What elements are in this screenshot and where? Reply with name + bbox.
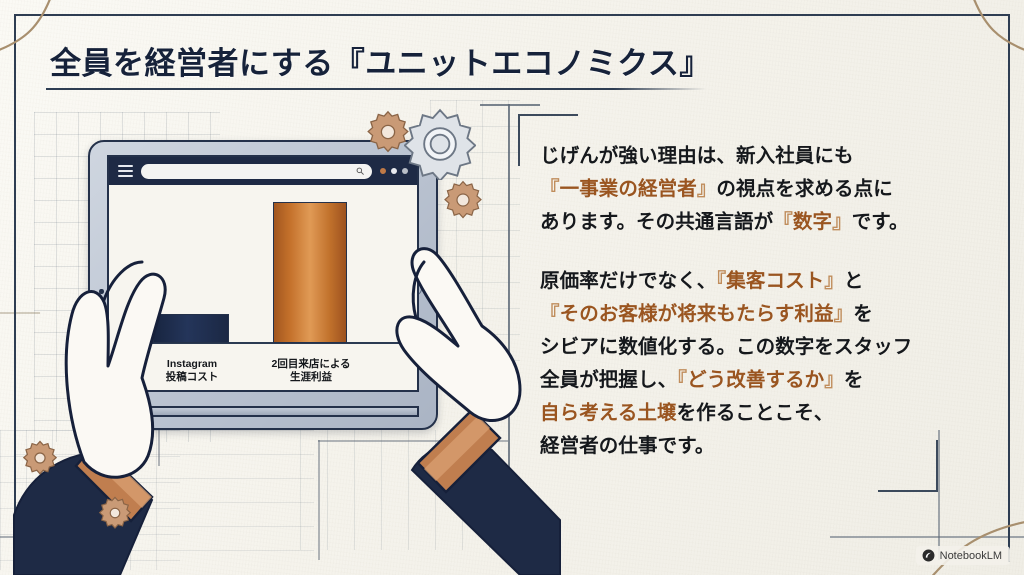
bar-label-lifetime-profit: 2回目来店による生涯利益: [250, 358, 372, 384]
guide-line-vertical-b: [318, 440, 320, 560]
text-line: 原価率だけでなく、『集客コスト』と: [540, 265, 960, 298]
bar-label-instagram-cost: Instagram投稿コスト: [133, 358, 251, 384]
text-line: 全員が把握し、『どう改善するか』を: [540, 364, 960, 397]
text-run: を作ることこそ、: [677, 402, 834, 424]
frame-right: [1008, 14, 1010, 562]
notebooklm-logo-icon: [922, 549, 935, 562]
bar-chart: Instagram投稿コスト 2回目来店による生涯利益: [109, 185, 417, 390]
highlight-run: 『: [540, 303, 560, 325]
text-run: を: [853, 303, 873, 325]
tablet-bottom-bezel: [107, 406, 419, 417]
highlight-run: 数字: [793, 211, 832, 233]
text-line: 『一事業の経営者』の視点を求める点に: [540, 173, 960, 206]
highlight-run: 『: [677, 369, 687, 391]
gear-copper-cuff-lower-icon: [98, 496, 132, 530]
highlight-run: 』: [824, 369, 844, 391]
text-run: 全員が把握し、: [540, 369, 677, 391]
highlight-run: 』: [824, 270, 844, 292]
watermark-label: NotebookLM: [940, 550, 1002, 562]
gear-copper-right-icon: [443, 180, 483, 220]
text-run: です。: [852, 211, 909, 233]
browser-dots[interactable]: [380, 168, 408, 174]
guide-line-panel-divider: [508, 104, 510, 544]
tablet-screen: Instagram投稿コスト 2回目来店による生涯利益: [107, 155, 419, 392]
browser-dot-3: [402, 168, 408, 174]
text-line: シビアに数値化する。この数字をスタッフ: [540, 331, 960, 364]
page-title: 全員を経営者にする『ユニットエコノミクス』: [50, 38, 711, 83]
text-run: の視点を求める点に: [716, 178, 892, 200]
slide-canvas: 全員を経営者にする『ユニットエコノミクス』 じげんが強い理由は、新入社員にも『一…: [0, 0, 1024, 575]
blueprint-grid-mid: [430, 100, 520, 400]
text-run: を: [844, 369, 864, 391]
highlight-run: 自ら考える土壌: [540, 402, 677, 424]
frame-left: [14, 14, 16, 562]
highlight-run: 一事業の経営者: [560, 178, 697, 200]
text-line: 自ら考える土壌を作ることこそ、: [540, 397, 960, 430]
text-line: 経営者の仕事です。: [540, 430, 960, 463]
guide-line-bottom-right: [830, 536, 1024, 538]
blueprint-grid-lower-left: [0, 430, 180, 570]
bar-label-line: Instagram: [133, 358, 251, 371]
text-run: 原価率だけでなく、: [540, 270, 716, 292]
title-underline: [46, 88, 706, 90]
highlight-run: 』: [834, 303, 854, 325]
blueprint-grid-bottom-vertical: [300, 430, 500, 550]
paragraph-1: じげんが強い理由は、新入社員にも『一事業の経営者』の視点を求める点にあります。そ…: [540, 140, 960, 239]
gear-copper-cuff-left-icon: [22, 440, 58, 476]
bar-instagram-cost: [153, 314, 229, 343]
text-line: じげんが強い理由は、新入社員にも: [540, 140, 960, 173]
guide-line-bottom-left: [0, 536, 120, 538]
highlight-run: どう改善するか: [687, 369, 824, 391]
hamburger-menu-icon[interactable]: [118, 165, 133, 177]
text-line: あります。その共通言語が『数字』です。: [540, 206, 960, 239]
guide-line-left: [0, 312, 40, 314]
highlight-run: 』: [697, 178, 717, 200]
highlight-run: 』: [832, 211, 852, 233]
tablet-device: Instagram投稿コスト 2回目来店による生涯利益: [88, 140, 438, 430]
paragraph-2: 原価率だけでなく、『集客コスト』と『そのお客様が将来もたらす利益』をシビアに数値…: [540, 265, 960, 463]
highlight-run: 『: [716, 270, 726, 292]
frame-top: [14, 14, 1010, 16]
guide-line-panel-top: [480, 104, 540, 106]
browser-dot-2: [391, 168, 397, 174]
text-run: と: [844, 270, 864, 292]
text-run: シビアに数値化する。この数字をスタッフ: [540, 336, 912, 358]
browser-dot-1: [380, 168, 386, 174]
camera-dot-icon: [99, 289, 104, 294]
highlight-run: 『: [540, 178, 560, 200]
highlight-run: 集客コスト: [726, 270, 824, 292]
highlight-run: 『: [773, 211, 793, 233]
text-panel: じげんが強い理由は、新入社員にも『一事業の経営者』の視点を求める点にあります。そ…: [540, 140, 960, 489]
bar-label-line: 投稿コスト: [133, 371, 251, 384]
browser-toolbar: [109, 157, 417, 185]
highlight-run: そのお客様が将来もたらす利益: [560, 303, 834, 325]
guide-line-horizontal-b: [318, 440, 508, 442]
bar-label-line: 生涯利益: [250, 371, 372, 384]
bar-lifetime-profit: [273, 202, 347, 343]
watermark: NotebookLM: [916, 546, 1010, 565]
text-run: 経営者の仕事です。: [540, 435, 714, 457]
blueprint-grid-bottom-horizontal: [14, 430, 314, 560]
text-run: あります。その共通言語が: [540, 211, 773, 233]
search-icon: [356, 167, 364, 175]
url-input[interactable]: [141, 164, 372, 179]
text-run: じげんが強い理由は、新入社員にも: [540, 145, 854, 167]
bar-label-line: 2回目来店による: [250, 358, 372, 371]
text-line: 『そのお客様が将来もたらす利益』を: [540, 298, 960, 331]
